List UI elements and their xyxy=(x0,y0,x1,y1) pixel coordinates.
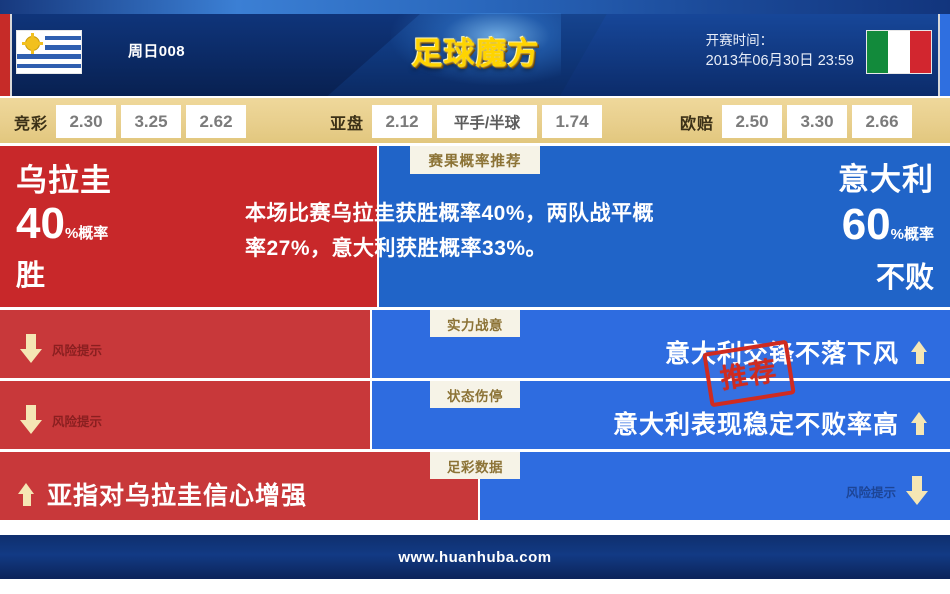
right-insight-text: 意大利表现稳定不败率高 xyxy=(613,405,899,441)
right-risk-hint: 风险提示 xyxy=(846,476,928,506)
odds-group-european: 欧赔 2.50 3.30 2.66 xyxy=(680,98,917,145)
italy-flag-green xyxy=(867,31,888,73)
italy-flag-red xyxy=(910,31,931,73)
odds-value[interactable]: 2.62 xyxy=(186,105,246,138)
odds-group-label: 竞彩 xyxy=(14,110,48,134)
arrow-up-icon xyxy=(18,483,35,506)
odds-group-asian: 亚盘 2.12 平手/半球 1.74 xyxy=(330,98,607,145)
main-content: 乌拉圭 40%概率 胜 赛果概率推荐 本场比赛乌拉圭获胜概率40%，两队战平概率… xyxy=(0,143,950,535)
uruguay-flag-icon xyxy=(16,30,82,74)
recommend-stamp: 推荐 xyxy=(706,346,792,401)
match-preview-page: 周日008 足球魔方 开赛时间： 2013年06月30日 23:59 竞彩 2.… xyxy=(0,0,950,594)
site-footer: www.huanhuba.com xyxy=(0,535,950,579)
odds-bar: 竞彩 2.30 3.25 2.62 亚盘 2.12 平手/半球 1.74 欧赔 … xyxy=(0,96,950,143)
uruguay-flag-canton xyxy=(17,31,45,54)
arrow-up-icon xyxy=(911,341,928,364)
arrow-down-icon xyxy=(20,405,42,435)
match-header: 周日008 足球魔方 开赛时间： 2013年06月30日 23:59 xyxy=(0,0,950,96)
header-right-divider xyxy=(938,14,940,96)
away-team-name: 意大利 xyxy=(604,160,934,200)
left-insight-message: 亚指对乌拉圭信心增强 xyxy=(18,476,307,512)
odds-handicap[interactable]: 平手/半球 xyxy=(437,105,537,138)
odds-value[interactable]: 2.66 xyxy=(852,105,912,138)
home-team-name: 乌拉圭 xyxy=(16,162,346,200)
uruguay-sun-icon xyxy=(26,37,39,50)
bottom-margin xyxy=(0,579,950,594)
odds-group-label: 亚盘 xyxy=(330,110,364,134)
arrow-up-icon xyxy=(911,412,928,435)
odds-value[interactable]: 3.30 xyxy=(787,105,847,138)
away-percent-suffix: %概率 xyxy=(891,226,934,243)
recommend-stamp-text: 推荐 xyxy=(702,340,796,408)
odds-value[interactable]: 3.25 xyxy=(121,105,181,138)
probability-summary: 本场比赛乌拉圭获胜概率40%，两队战平概率27%，意大利获胜概率33%。 xyxy=(245,196,675,266)
right-risk-hint-text: 风险提示 xyxy=(846,482,896,501)
home-percent-number: 40 xyxy=(16,199,65,248)
left-risk-hint: 风险提示 xyxy=(20,334,102,364)
tab-lottery-data[interactable]: 足彩数据 xyxy=(430,452,520,479)
kickoff-label: 开赛时间： xyxy=(706,30,854,51)
insight-row-form: 状态伤停 风险提示 意大利表现稳定不败率高 xyxy=(0,381,950,449)
tab-form-injury[interactable]: 状态伤停 xyxy=(430,381,520,408)
italy-flag-icon xyxy=(866,30,932,74)
odds-group-jingcai: 竞彩 2.30 3.25 2.62 xyxy=(14,98,251,145)
probability-panel: 乌拉圭 40%概率 胜 赛果概率推荐 本场比赛乌拉圭获胜概率40%，两队战平概率… xyxy=(0,146,950,307)
header-left-red-strip xyxy=(0,14,10,96)
left-risk-hint-text: 风险提示 xyxy=(52,340,102,359)
header-left-divider xyxy=(10,14,12,96)
kickoff-value: 2013年06月30日 23:59 xyxy=(706,51,854,72)
left-risk-hint: 风险提示 xyxy=(20,405,102,435)
tab-result-probability[interactable]: 赛果概率推荐 xyxy=(410,146,540,174)
left-insight-text: 亚指对乌拉圭信心增强 xyxy=(47,476,307,512)
left-risk-hint-text: 风险提示 xyxy=(52,411,102,430)
home-percent-suffix: %概率 xyxy=(65,225,108,242)
right-insight-message: 意大利表现稳定不败率高 xyxy=(613,405,928,441)
away-percent-number: 60 xyxy=(842,200,891,249)
odds-group-label: 欧赔 xyxy=(680,110,714,134)
insight-row-lottery-data: 足彩数据 亚指对乌拉圭信心增强 风险提示 xyxy=(0,452,950,520)
tab-strength-intent[interactable]: 实力战意 xyxy=(430,310,520,337)
arrow-down-icon xyxy=(20,334,42,364)
site-url[interactable]: www.huanhuba.com xyxy=(398,549,551,566)
header-right-blue-strip xyxy=(940,14,950,96)
insight-row-strength: 实力战意 风险提示 意大利交锋不落下风 xyxy=(0,310,950,378)
arrow-down-icon xyxy=(906,476,928,506)
odds-value[interactable]: 1.74 xyxy=(542,105,602,138)
uruguay-flag-stripes xyxy=(17,31,81,73)
header-sheen xyxy=(0,0,950,14)
match-number: 周日008 xyxy=(128,40,185,61)
italy-flag-white xyxy=(888,31,909,73)
brand-logo-text: 足球魔方 xyxy=(398,28,553,73)
kickoff-time: 开赛时间： 2013年06月30日 23:59 xyxy=(706,30,854,72)
odds-value[interactable]: 2.12 xyxy=(372,105,432,138)
brand-logo[interactable]: 足球魔方 xyxy=(398,18,553,80)
odds-value[interactable]: 2.30 xyxy=(56,105,116,138)
odds-value[interactable]: 2.50 xyxy=(722,105,782,138)
